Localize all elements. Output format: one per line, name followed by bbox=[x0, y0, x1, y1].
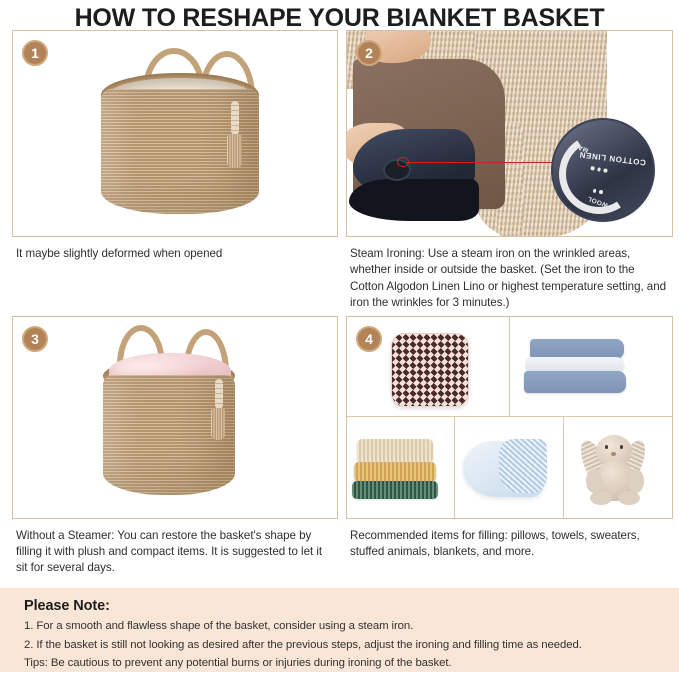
pillow-shape bbox=[391, 333, 469, 407]
bunny-eye-left bbox=[605, 445, 608, 449]
step-4-caption: Recommended items for filling: pillows, … bbox=[346, 519, 673, 561]
steam-iron-soleplate bbox=[349, 179, 479, 221]
step-1-caption: It maybe slightly deformed when opened bbox=[12, 237, 338, 262]
filling-item-sweaters bbox=[347, 417, 455, 518]
step-badge-2: 2 bbox=[356, 40, 382, 66]
bunny-nose bbox=[611, 452, 616, 456]
towel-blue-bottom bbox=[524, 371, 626, 393]
filling-item-towels bbox=[510, 317, 673, 418]
step-4-photo: 4 bbox=[346, 316, 673, 519]
please-note-section: Please Note: 1. For a smooth and flawles… bbox=[0, 588, 679, 672]
please-note-line-2: 2. If the basket is still not looking as… bbox=[24, 636, 657, 655]
dial-arc bbox=[552, 127, 647, 222]
bunny-arm-left bbox=[586, 469, 602, 493]
basket-illustration-3 bbox=[13, 317, 337, 518]
basket-tassel-tail bbox=[227, 134, 242, 168]
please-note-title: Please Note: bbox=[24, 598, 657, 614]
towel-blue-top bbox=[530, 339, 624, 359]
step-2-caption: Steam Ironing: Use a steam iron on the w… bbox=[346, 237, 673, 312]
step-badge-3: 3 bbox=[22, 326, 48, 352]
filling-item-stuffed-animal bbox=[564, 417, 672, 518]
filling-items-grid bbox=[347, 317, 672, 518]
page-title: HOW TO RESHAPE YOUR BIANKET BASKET bbox=[0, 0, 679, 30]
step-2: 2 bbox=[346, 30, 673, 312]
basket-tassel-beads bbox=[231, 101, 239, 135]
bunny-foot-left bbox=[590, 491, 612, 505]
step-1-photo: 1 bbox=[12, 30, 338, 237]
basket-illustration-1 bbox=[13, 31, 337, 236]
step-2-photo: 2 bbox=[346, 30, 673, 237]
sweater-green bbox=[352, 481, 438, 499]
sweater-mustard bbox=[354, 462, 436, 482]
magnifier-inset: COTTON LINEN MAX WOOL bbox=[551, 118, 655, 222]
filling-items-row-top bbox=[347, 317, 672, 418]
step-3-photo: 3 bbox=[12, 316, 338, 519]
step-badge-1: 1 bbox=[22, 40, 48, 66]
blanket-knit-texture bbox=[499, 439, 547, 493]
step-4: 4 bbox=[346, 316, 673, 577]
filling-items-row-bottom bbox=[347, 417, 672, 518]
steps-grid: 1 It maybe slightly deformed when opened… bbox=[0, 30, 679, 577]
bunny-foot-right bbox=[618, 491, 640, 505]
sweater-cream bbox=[357, 439, 433, 463]
basket3-tassel-tail bbox=[211, 408, 225, 440]
please-note-line-1: 1. For a smooth and flawless shape of th… bbox=[24, 617, 657, 636]
basket3-tassel-beads bbox=[215, 379, 223, 409]
ironing-illustration: COTTON LINEN MAX WOOL bbox=[347, 31, 672, 236]
magnifier-pointer-line bbox=[407, 162, 555, 163]
bunny-eye-right bbox=[620, 445, 623, 449]
step-1: 1 It maybe slightly deformed when opened bbox=[12, 30, 338, 312]
step-3-caption: Without a Steamer: You can restore the b… bbox=[12, 519, 338, 577]
step-badge-4: 4 bbox=[356, 326, 382, 352]
step-3: 3 Without a Steamer: You can restore the… bbox=[12, 316, 338, 577]
filling-item-blanket bbox=[455, 417, 563, 518]
bunny-arm-right bbox=[628, 469, 644, 493]
please-note-line-3: Tips: Be cautious to prevent any potenti… bbox=[24, 654, 657, 673]
